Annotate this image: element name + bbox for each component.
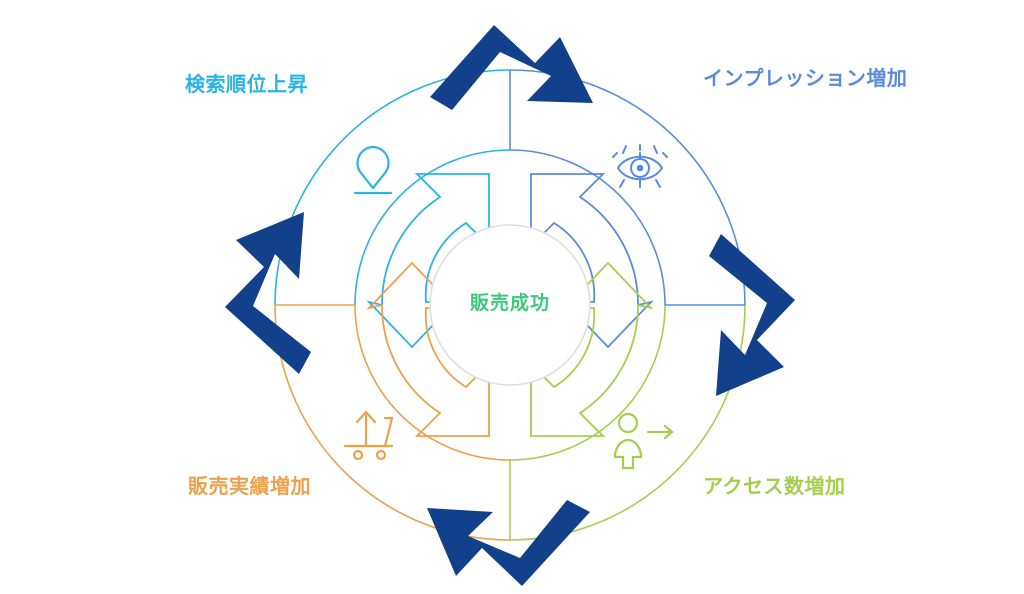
label-sales-results: 販売実績増加 bbox=[188, 470, 311, 499]
location-pin-icon bbox=[355, 147, 391, 193]
outer-arrow-left bbox=[225, 212, 311, 374]
outer-arrow-right bbox=[709, 234, 795, 396]
center-success-label: 販売成功 bbox=[430, 288, 590, 315]
label-access-count: アクセス数増加 bbox=[703, 470, 846, 499]
label-impressions: インプレッション増加 bbox=[703, 62, 907, 91]
diagram-canvas: 検索順位上昇 インプレッション増加 アクセス数増加 販売実績増加 販売成功 bbox=[0, 0, 1024, 594]
outer-arrow-top bbox=[430, 25, 593, 110]
label-search-rank: 検索順位上昇 bbox=[185, 68, 308, 97]
outer-arrow-bottom bbox=[427, 500, 590, 586]
eye-icon bbox=[613, 145, 667, 187]
person-arrow-icon bbox=[615, 414, 672, 468]
shopping-cart-up-icon bbox=[345, 412, 392, 459]
